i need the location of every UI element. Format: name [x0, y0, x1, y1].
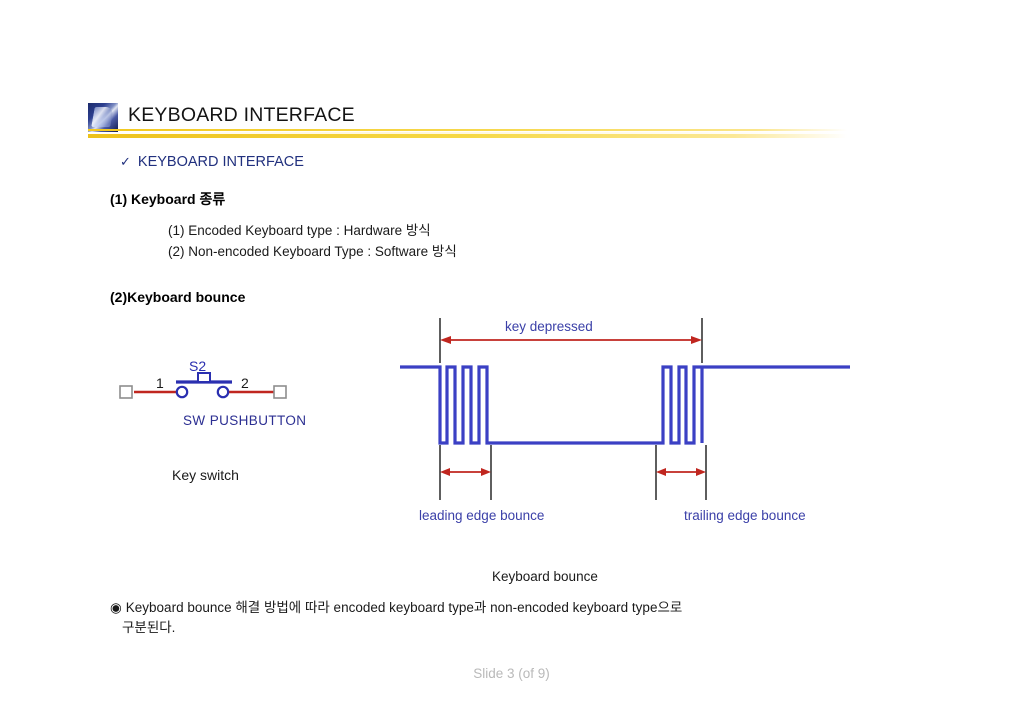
switch-schematic-svg: S2 1 2: [110, 360, 350, 440]
bounce-waveform-svg: [395, 315, 855, 515]
divider-line-top: [88, 129, 847, 131]
footnote-line-2: 구분된다.: [122, 618, 870, 638]
switch-schematic: S2 1 2: [110, 360, 350, 440]
logo-glyph: [91, 107, 114, 127]
contact-circle-left: [177, 387, 187, 397]
sub-item-2: (2) Non-encoded Keyboard Type : Software…: [168, 241, 457, 262]
section-heading: ✓KEYBOARD INTERFACE: [120, 154, 304, 170]
trailing-edge-bounce-label: trailing edge bounce: [684, 508, 806, 523]
page-title: KEYBOARD INTERFACE: [128, 104, 355, 127]
presentation-logo-icon: [88, 103, 118, 132]
key-depressed-label: key depressed: [505, 319, 593, 334]
leading-edge-bounce-label: leading edge bounce: [419, 508, 544, 523]
divider-line-bottom: [88, 134, 847, 138]
bounce-waveform-figure: [395, 315, 855, 515]
terminal-pad-right: [274, 386, 286, 398]
terminal-pad-left: [120, 386, 132, 398]
trailing-bounce-arrow: [656, 468, 706, 476]
checkmark-icon: ✓: [120, 154, 131, 169]
figure-caption: Keyboard bounce: [492, 569, 598, 584]
footnote: ◉Keyboard bounce 해결 방법에 따라 encoded keybo…: [110, 598, 870, 638]
switch-designator: S2: [189, 360, 206, 374]
footnote-line-1: Keyboard bounce 해결 방법에 따라 encoded keyboa…: [126, 600, 683, 615]
section-heading-label: KEYBOARD INTERFACE: [138, 154, 304, 170]
sub-item-list: (1) Encoded Keyboard type : Hardware 방식 …: [168, 220, 457, 262]
header-divider: [88, 129, 847, 138]
sub-item-1: (1) Encoded Keyboard type : Hardware 방식: [168, 220, 457, 241]
leading-bounce-arrow: [440, 468, 491, 476]
pin-number-1: 1: [156, 375, 164, 391]
slide-number: Slide 3 (of 9): [0, 666, 1023, 681]
footnote-bullet-icon: ◉: [110, 600, 122, 615]
key-switch-label: Key switch: [172, 467, 239, 483]
contact-circle-right: [218, 387, 228, 397]
key-depressed-arrow: [440, 336, 702, 344]
bounce-heading: (2)Keyboard bounce: [110, 289, 245, 305]
waveform-trace: [400, 367, 850, 443]
switch-caption: SW PUSHBUTTON: [183, 413, 306, 428]
plunger-nub: [198, 373, 210, 382]
list-heading: (1) Keyboard 종류: [110, 189, 225, 209]
pin-number-2: 2: [241, 375, 249, 391]
